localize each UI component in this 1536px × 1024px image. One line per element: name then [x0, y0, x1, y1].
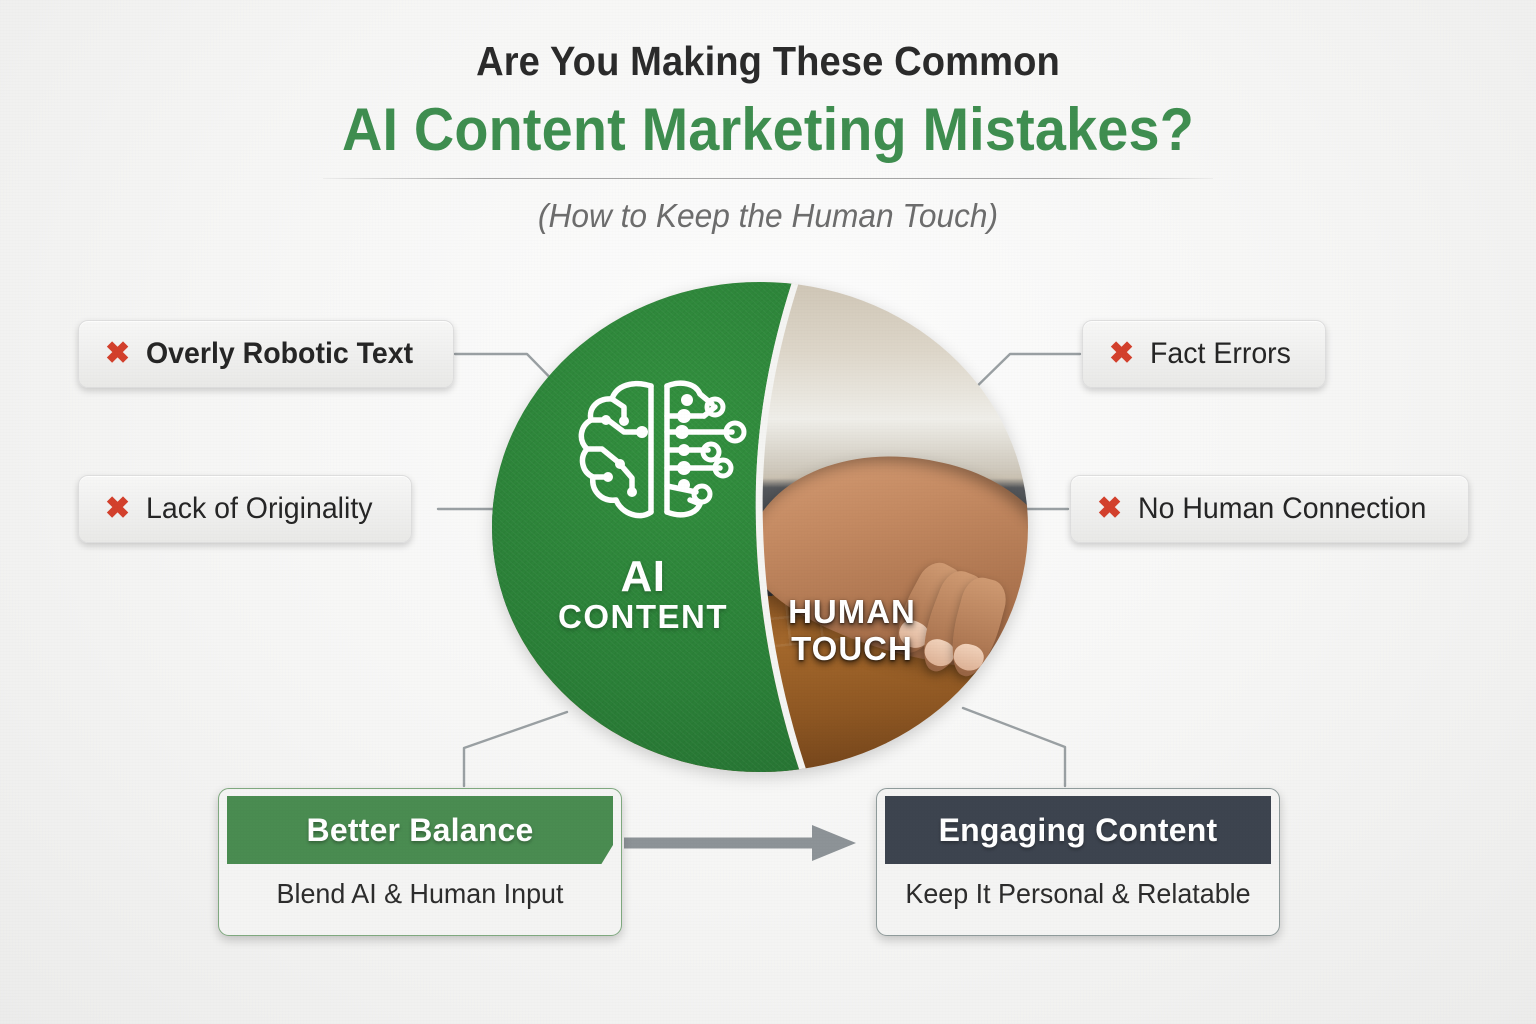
ai-content-label: AI CONTENT	[528, 554, 758, 635]
mistake-label: Lack of Originality	[146, 492, 373, 526]
title-divider	[323, 178, 1213, 179]
red-x-icon: ✖	[1109, 339, 1134, 369]
card-title: Engaging Content	[885, 796, 1271, 864]
page-header: Are You Making These Common AI Content M…	[0, 0, 1536, 235]
red-x-icon: ✖	[105, 494, 130, 524]
flow-arrow-icon	[624, 825, 856, 861]
mistake-label: No Human Connection	[1138, 492, 1426, 526]
card-title: Better Balance	[227, 796, 613, 864]
title-line-one: Are You Making These Common	[54, 38, 1482, 85]
ai-brain-circuit-icon	[572, 374, 757, 534]
mistake-label: Overly Robotic Text	[146, 337, 413, 371]
red-x-icon: ✖	[105, 339, 130, 369]
solution-card-engaging-content[interactable]: Engaging Content Keep It Personal & Rela…	[876, 788, 1280, 936]
human-touch-label: HUMAN TOUCH	[744, 594, 960, 668]
ai-label-small: CONTENT	[528, 600, 758, 635]
mistake-no-human-connection[interactable]: ✖ No Human Connection	[1070, 475, 1469, 543]
page-title: AI Content Marketing Mistakes?	[54, 95, 1482, 164]
page-subtitle: (How to Keep the Human Touch)	[31, 197, 1506, 235]
card-subtitle: Blend AI & Human Input	[227, 878, 613, 910]
ai-human-split-circle: AI CONTENT HUMAN TOUCH	[492, 282, 1028, 772]
red-x-icon: ✖	[1097, 494, 1122, 524]
mistake-lack-of-originality[interactable]: ✖ Lack of Originality	[78, 475, 412, 543]
card-subtitle: Keep It Personal & Relatable	[885, 878, 1271, 910]
ai-label-big: AI	[528, 554, 758, 600]
mistake-label: Fact Errors	[1150, 337, 1291, 371]
mistake-overly-robotic-text[interactable]: ✖ Overly Robotic Text	[78, 320, 454, 388]
mistake-fact-errors[interactable]: ✖ Fact Errors	[1082, 320, 1326, 388]
solution-card-better-balance[interactable]: Better Balance Blend AI & Human Input	[218, 788, 622, 936]
